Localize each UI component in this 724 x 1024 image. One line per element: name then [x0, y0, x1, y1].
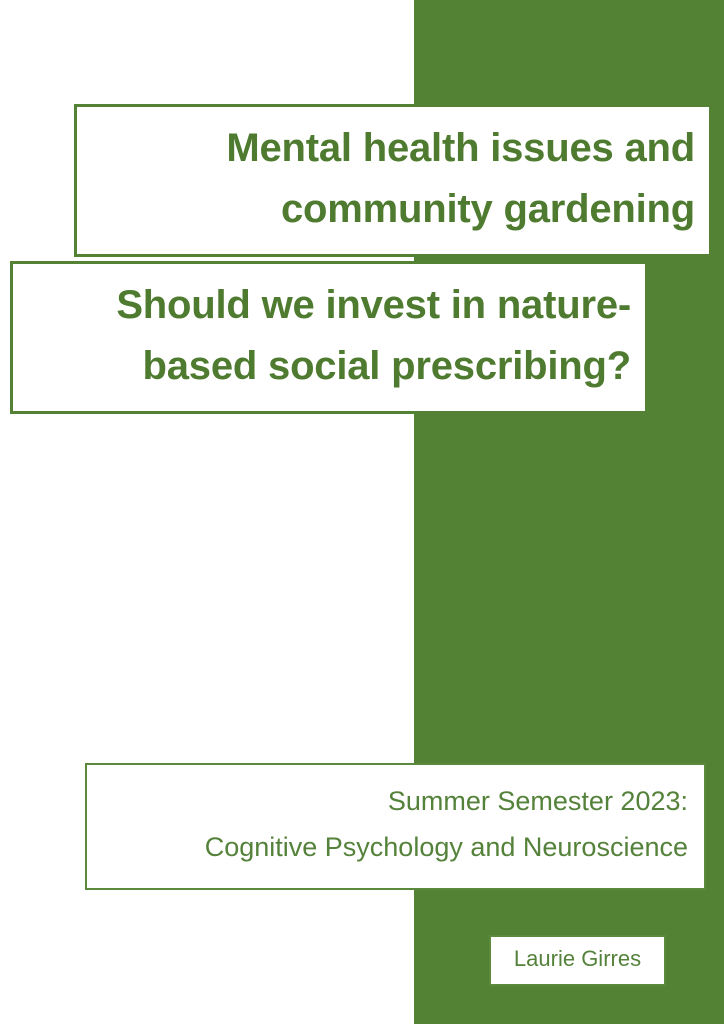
author-block: Laurie Girres: [489, 935, 666, 986]
title-line-1: Mental health issues and: [97, 118, 695, 179]
subtitle-block: Summer Semester 2023: Cognitive Psycholo…: [85, 763, 706, 890]
title-block-primary: Mental health issues and community garde…: [74, 104, 712, 257]
author-name: Laurie Girres: [514, 946, 641, 972]
subtitle-line-2: Cognitive Psychology and Neuroscience: [103, 825, 688, 870]
title-block-secondary: Should we invest in nature- based social…: [10, 261, 648, 414]
title-line-4: based social prescribing?: [33, 336, 631, 397]
title-line-2: community gardening: [97, 179, 695, 240]
title-line-3: Should we invest in nature-: [33, 275, 631, 336]
cover-page: Mental health issues and community garde…: [0, 0, 724, 1024]
subtitle-line-1: Summer Semester 2023:: [103, 779, 688, 824]
